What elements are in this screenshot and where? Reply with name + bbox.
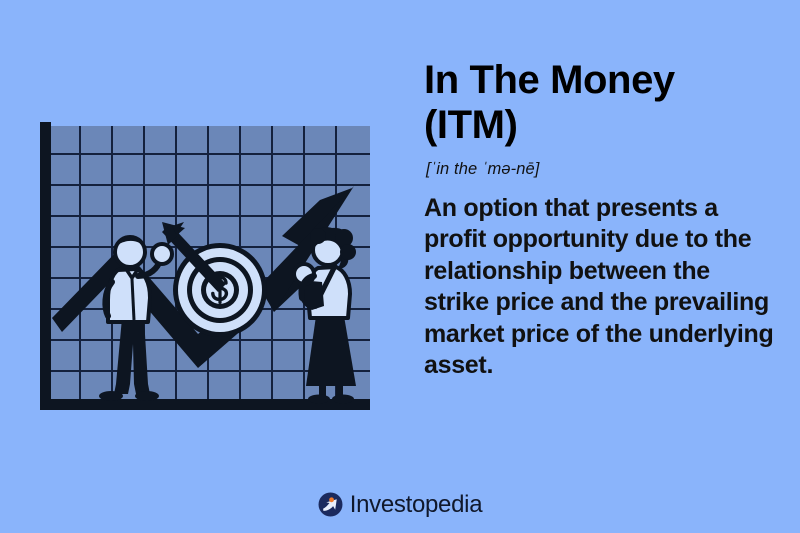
page-title: In The Money (ITM) [424, 58, 780, 148]
brand-footer: Investopedia [0, 492, 800, 517]
phone-in-hand [152, 244, 172, 264]
shoe-left [99, 391, 123, 401]
brand-wordmark: Investopedia [350, 493, 483, 517]
woman-shoe-right [332, 395, 354, 404]
infographic-card: In The Money (ITM) [ˈin the ˈmə-nē] An o… [0, 0, 800, 533]
definition-text: An option that presents a profit opportu… [424, 193, 780, 382]
investopedia-logo-icon [318, 492, 343, 517]
text-column: In The Money (ITM) [ˈin the ˈmə-nē] An o… [424, 58, 780, 382]
illustration [38, 122, 378, 418]
woman-shoe-left [308, 395, 330, 404]
shoe-right [135, 391, 159, 401]
pronunciation-text: [ˈin the ˈmə-nē] [426, 160, 780, 179]
